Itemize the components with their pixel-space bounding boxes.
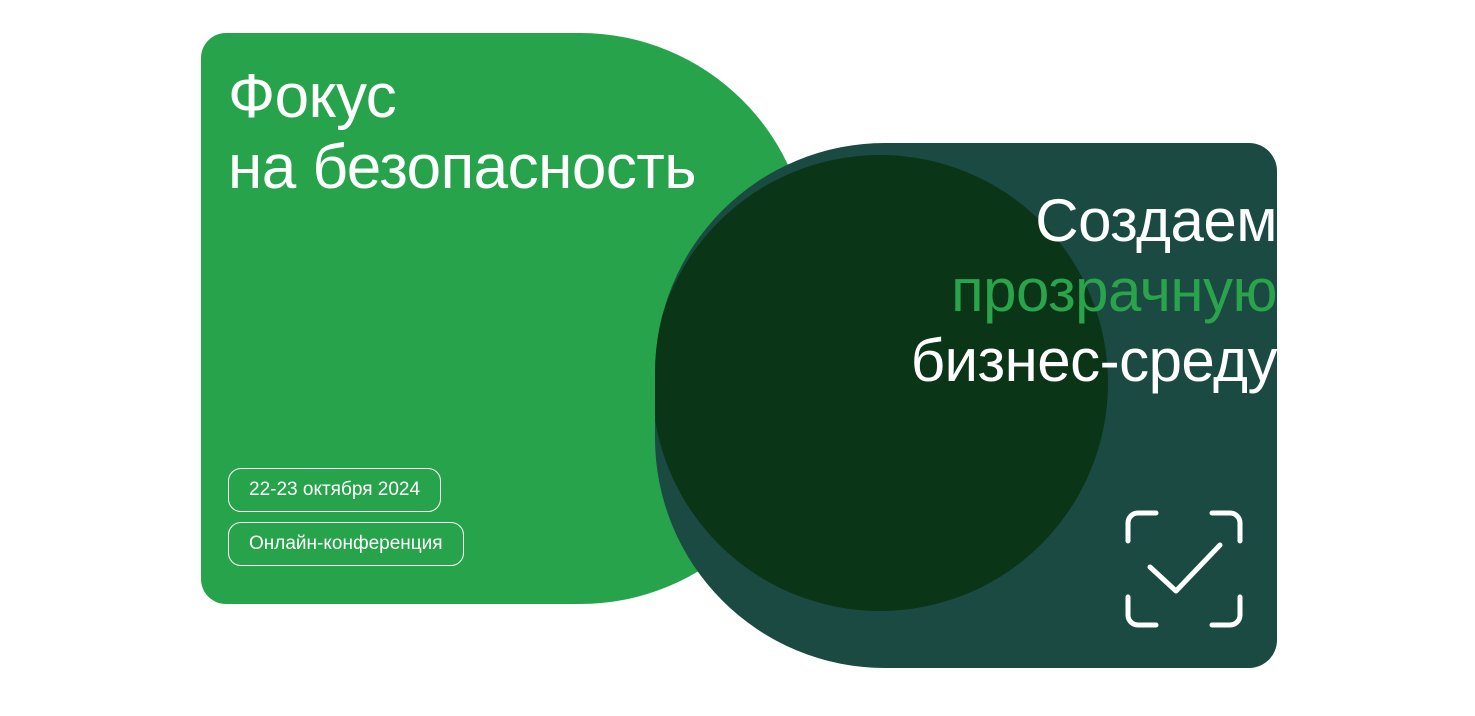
left-headline-line-2: на безопасность (228, 133, 768, 204)
right-headline-line-3: бизнес-среду (911, 326, 1277, 396)
left-headline-block: Фокус на безопасность (228, 62, 768, 203)
badge-group: 22-23 октября 2024 Онлайн-конференция (228, 468, 464, 566)
scan-check-icon (1120, 505, 1248, 633)
badge-format: Онлайн-конференция (228, 522, 464, 566)
right-headline-line-1: Создаем (911, 186, 1277, 256)
left-headline: Фокус на безопасность (228, 62, 768, 203)
badge-date: 22-23 октября 2024 (228, 468, 441, 512)
left-headline-line-1: Фокус (228, 62, 768, 133)
right-headline: Создаем прозрачную бизнес-среду (911, 186, 1277, 397)
right-headline-line-2: прозрачную (911, 256, 1277, 326)
promo-banner: Фокус на безопасность 22-23 октября 2024… (0, 0, 1475, 716)
right-headline-block: Создаем прозрачную бизнес-среду (911, 186, 1277, 397)
